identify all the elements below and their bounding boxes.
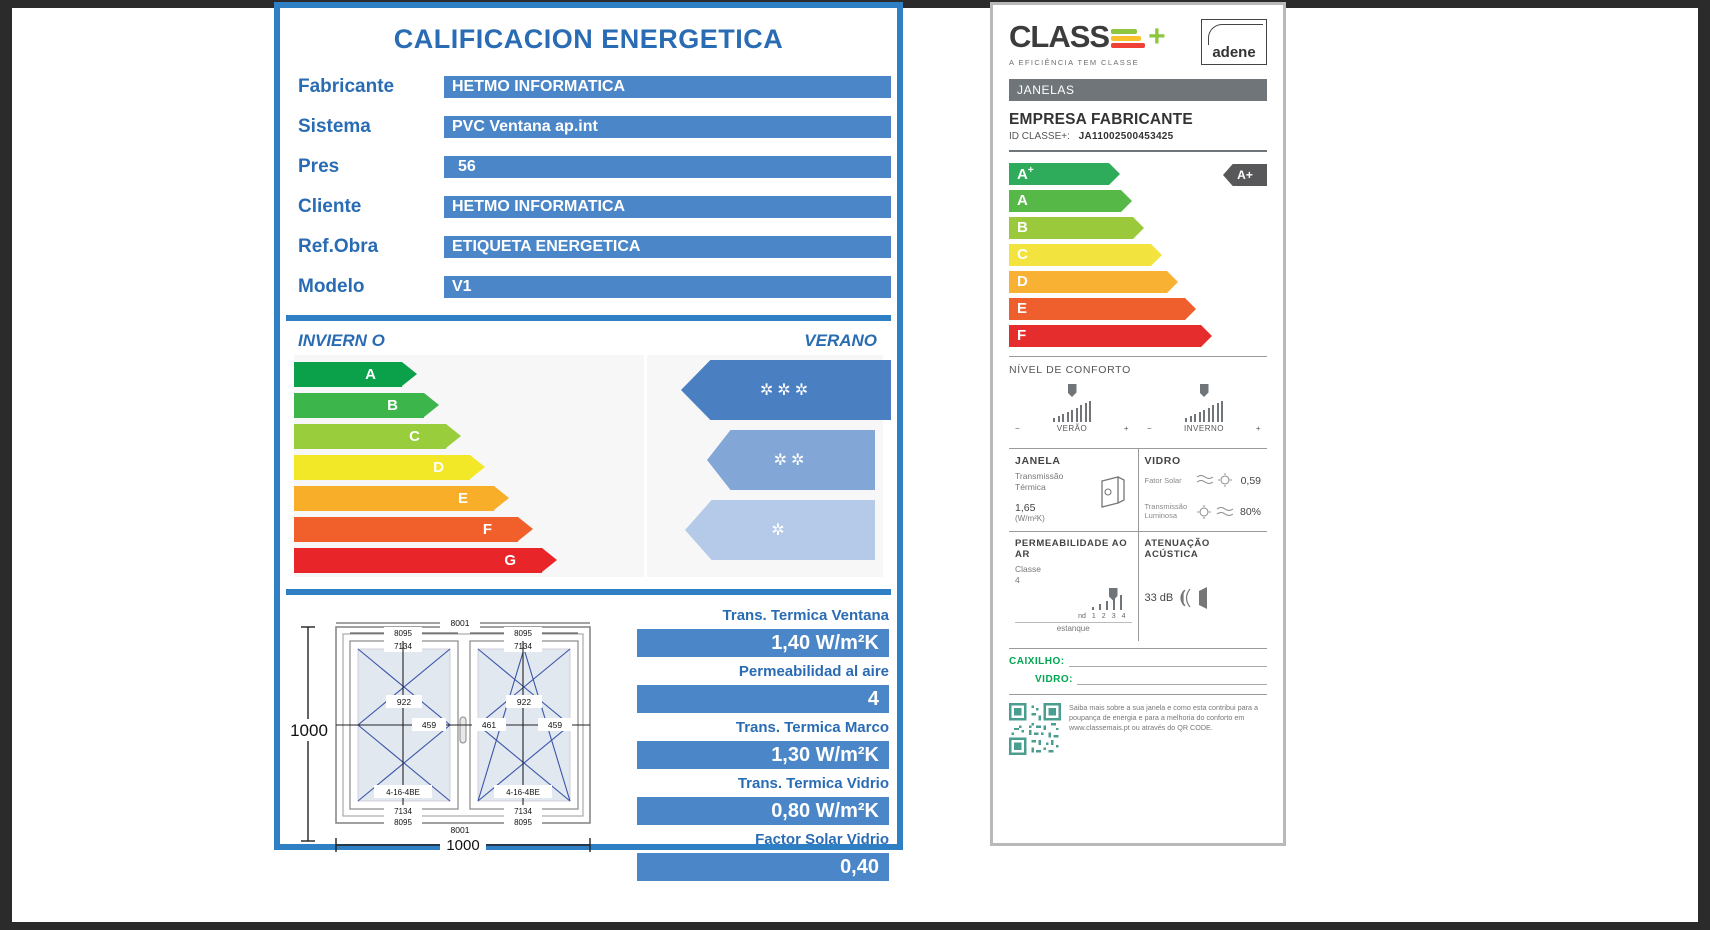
spec-solar-row: Fator Solar 0,59 (1145, 473, 1262, 489)
field-value[interactable]: ETIQUETA ENERGETICA (444, 236, 891, 258)
class-bar-row: G (294, 545, 644, 576)
class-bar-f: F (294, 517, 518, 542)
gauge-bar (1217, 403, 1219, 422)
gauge-bars-icon (1092, 594, 1122, 610)
divider (1009, 356, 1267, 357)
permeability-scale-tick: nd (1078, 613, 1086, 620)
permeability-scale: nd1234 (1078, 613, 1125, 620)
gauge-bar (1053, 418, 1055, 422)
gauge-bar (1067, 412, 1069, 422)
gauge-bars-icon (1141, 400, 1267, 422)
spec-vidro: VIDRO Fator Solar 0,59 (1138, 449, 1268, 531)
summer-level-2: ✲✲ (707, 430, 875, 490)
field-rule (1069, 656, 1267, 667)
class-letter: E (458, 490, 468, 507)
spec-grid-bottom: PERMEABILIDADE AO AR Classe 4 nd1234 est… (1009, 531, 1267, 640)
gauge-inverno: − INVERNO + (1141, 384, 1267, 442)
summer-class-scale: ✲✲✲ ✲✲ ✲ (647, 355, 883, 577)
qr-code[interactable] (1009, 703, 1061, 755)
pt-class-letter: E (1017, 300, 1027, 317)
gauge-bars-icon (1009, 400, 1135, 422)
footer-row: Saiba mais sobre a sua janela e como est… (1009, 703, 1267, 755)
permeability-scale-tick: 4 (1122, 613, 1126, 620)
seasons-section: INVIERN O VERANO A B C D E F G A *** (280, 321, 897, 589)
gauge-bar (1199, 412, 1201, 422)
field-value[interactable]: HETMO INFORMATICA (444, 76, 891, 98)
field-row-fabricante: Fabricante HETMO INFORMATICA (286, 67, 891, 107)
svg-text:8095: 8095 (394, 629, 412, 638)
field-row-modelo: Modelo V1 (286, 267, 891, 307)
comfort-section-title: NÍVEL DE CONFORTO (1009, 364, 1267, 376)
comfort-gauges: − VERÃO + − INVERNO + (1009, 384, 1267, 442)
field-row-sistema: Sistema PVC Ventana ap.int (286, 107, 891, 147)
gauge-bar (1106, 601, 1108, 610)
data-value-trans-marco: 1,30 W/m²K (637, 741, 889, 769)
screenshot-root: CALIFICACION ENERGETICA Fabricante HETMO… (0, 0, 1710, 930)
field-label: Sistema (286, 116, 444, 138)
class-letter: F (483, 521, 492, 538)
gauge-bar (1113, 598, 1115, 610)
performance-data-table: Trans. Termica Ventana 1,40 W/m²K Permea… (637, 603, 889, 883)
field-label: Ref.Obra (286, 236, 444, 258)
class-letter: A (365, 366, 376, 383)
class-letter: G (504, 552, 516, 569)
spec-lumi-row: Transmissão Luminosa 80% (1145, 503, 1262, 520)
svg-text:8001: 8001 (451, 618, 470, 628)
product-category-badge: JANELAS (1009, 79, 1267, 101)
field-label: Fabricante (286, 76, 444, 98)
adene-name: adene (1212, 44, 1255, 61)
class-bar-row: C (294, 421, 644, 452)
field-list: Fabricante HETMO INFORMATICA Sistema PVC… (280, 67, 897, 307)
summer-level-row: ✲✲✲ (647, 355, 883, 425)
spec-sub-permeabilidade: Classe (1015, 564, 1132, 575)
svg-text:459: 459 (422, 720, 436, 730)
data-label-trans-vidrio: Trans. Termica Vidrio (637, 771, 889, 797)
data-label-factor-solar: Factor Solar Vidrio (637, 827, 889, 853)
data-value-trans-ventana: 1,40 W/m²K (637, 629, 889, 657)
pt-class-bar-d: D (1009, 271, 1167, 293)
gauge-season-label: VERÃO (1057, 424, 1088, 433)
company-name: EMPRESA FABRICANTE (1009, 111, 1267, 129)
class-bar-row: B (294, 390, 644, 421)
gauge-bar (1080, 405, 1082, 422)
spec-permeabilidade: PERMEABILIDADE AO AR Classe 4 nd1234 est… (1009, 532, 1138, 640)
gauge-scale: − INVERNO + (1141, 424, 1267, 433)
pt-class-bar-e: E (1009, 298, 1185, 320)
pt-class-letter: A (1017, 192, 1028, 209)
field-value[interactable]: V1 (444, 276, 891, 298)
gauge-bar (1089, 401, 1091, 422)
speaker-icon (1179, 586, 1219, 610)
pt-class-letter: B (1017, 219, 1028, 236)
spec-janela: JANELA Transmissão Térmica 1,65 (W/m²K) (1009, 449, 1138, 531)
svg-text:1000: 1000 (290, 721, 328, 740)
gauge-bar (1212, 405, 1214, 422)
spec-title-acustica: ATENUAÇÃO ACÚSTICA (1145, 538, 1262, 560)
svg-text:8001: 8001 (451, 825, 470, 835)
classe-id-label: ID CLASSE+: (1009, 131, 1070, 142)
gauge-bar (1058, 416, 1060, 422)
class-bar-row: A (294, 359, 644, 390)
window-thermal-icon (1098, 475, 1128, 509)
spec-acustica: ATENUAÇÃO ACÚSTICA 33 dB (1138, 532, 1268, 640)
class-letter: B (387, 397, 398, 414)
pt-class-bar-c: C (1009, 244, 1151, 266)
svg-text:4-16-4BE: 4-16-4BE (386, 788, 420, 797)
white-canvas: CALIFICACION ENERGETICA Fabricante HETMO… (12, 8, 1698, 922)
class-bar-row: E (294, 483, 644, 514)
portuguese-energy-label: CLASS + A EFICIÊNCIA TEM CLASSE adene JA… (990, 2, 1286, 846)
pt-class-bar-b: B (1009, 217, 1133, 239)
gauge-bar (1203, 410, 1205, 422)
summer-level-1: ✲ (685, 500, 875, 560)
classe-tagline: A EFICIÊNCIA TEM CLASSE (1009, 58, 1165, 67)
pt-bar-row: A (1009, 187, 1267, 214)
winter-title: INVIERN O (298, 331, 385, 351)
gauge-bar (1190, 416, 1192, 422)
permeability-gauge: nd1234 (1015, 588, 1132, 622)
gauge-verao: − VERÃO + (1009, 384, 1135, 442)
gauge-plus: + (1124, 424, 1129, 433)
gauge-bar (1208, 408, 1210, 423)
spec-value-lumi: 80% (1240, 506, 1261, 518)
window-technical-drawing: 1000 1000 (290, 609, 638, 855)
gauge-bar (1120, 595, 1122, 610)
gauge-bar (1062, 414, 1064, 422)
spec-title-janela: JANELA (1015, 455, 1132, 467)
brand-header: CLASS + A EFICIÊNCIA TEM CLASSE adene (1009, 19, 1267, 67)
gauge-bar (1221, 401, 1223, 422)
field-caixilho[interactable]: CAIXILHO: (1009, 656, 1267, 667)
classe-bars-icon (1111, 29, 1145, 48)
pt-bar-row: F (1009, 322, 1267, 349)
divider (1009, 648, 1267, 649)
pt-class-bar-a: A (1009, 190, 1121, 212)
classe-id-value: JA11002500453425 (1079, 131, 1174, 142)
gauge-bar (1099, 604, 1101, 610)
classe-logo: CLASS + A EFICIÊNCIA TEM CLASSE (1009, 19, 1165, 67)
luminous-transmission-icon (1195, 504, 1235, 520)
pt-class-scale: A+ A+ A B C D E F (1009, 160, 1267, 349)
summer-level-3: ✲✲✲ (681, 360, 891, 420)
classe-wordmark: CLASS + (1009, 19, 1165, 55)
pt-bar-row: E (1009, 295, 1267, 322)
gauge-bar (1194, 414, 1196, 422)
field-vidro[interactable]: VIDRO: (1009, 674, 1267, 685)
field-value[interactable]: HETMO INFORMATICA (444, 196, 891, 218)
svg-text:7134: 7134 (514, 807, 532, 816)
class-letter: D (433, 459, 444, 476)
gauge-bar (1071, 410, 1073, 422)
gauge-minus: − (1015, 424, 1020, 433)
gauge-scale: − VERÃO + (1009, 424, 1135, 433)
spec-title-permeabilidade: PERMEABILIDADE AO AR (1015, 538, 1132, 560)
spanish-energy-label: CALIFICACION ENERGETICA Fabricante HETMO… (274, 2, 903, 850)
pt-class-letter: D (1017, 273, 1028, 290)
field-label-vidro: VIDRO: (1035, 674, 1073, 685)
class-bar-g: G (294, 548, 542, 573)
data-label-permeabilidad: Permeabilidad al aire (637, 659, 889, 685)
svg-text:922: 922 (517, 697, 531, 707)
pt-class-bar-aplus: A+ (1009, 163, 1109, 185)
spec-value-solar: 0,59 (1241, 475, 1261, 487)
divider (1009, 150, 1267, 152)
spec-label-solar: Fator Solar (1145, 477, 1191, 486)
gauge-marker-icon (1068, 384, 1077, 397)
svg-text:459: 459 (548, 720, 562, 730)
class-bar-e: E (294, 486, 494, 511)
class-letter: C (409, 428, 420, 445)
page-title: CALIFICACION ENERGETICA (280, 24, 897, 55)
field-row-refobra: Ref.Obra ETIQUETA ENERGETICA (286, 227, 891, 267)
gauge-bar (1185, 418, 1187, 422)
field-rule (1077, 674, 1267, 685)
pt-class-letter: C (1017, 246, 1028, 263)
acoustic-row: 33 dB (1145, 586, 1262, 610)
pt-bar-row: D (1009, 268, 1267, 295)
permeability-scale-tick: 1 (1092, 613, 1096, 620)
gauge-season-label: INVERNO (1184, 424, 1224, 433)
class-bar-d: D (294, 455, 470, 480)
pt-class-bar-f: F (1009, 325, 1201, 347)
field-label: Pres (286, 156, 444, 178)
spec-unit-janela: (W/m²K) (1015, 514, 1132, 523)
data-value-permeabilidad: 4 (637, 685, 889, 713)
gauge-bar (1085, 403, 1087, 422)
svg-text:8095: 8095 (514, 629, 532, 638)
data-value-factor-solar: 0,40 (637, 853, 889, 881)
gauge-bar (1092, 607, 1094, 610)
field-value[interactable]: 56 (444, 156, 891, 178)
gauge-minus: − (1147, 424, 1152, 433)
pt-class-letter: F (1017, 327, 1026, 344)
summer-title: VERANO (804, 331, 877, 351)
svg-text:7134: 7134 (394, 807, 412, 816)
winter-class-scale: A B C D E F G (294, 355, 644, 577)
divider (1009, 694, 1267, 695)
spec-label-lumi: Transmissão Luminosa (1145, 503, 1191, 520)
data-label-trans-marco: Trans. Termica Marco (637, 715, 889, 741)
footer-text: Saiba mais sobre a sua janela e como est… (1069, 703, 1267, 734)
svg-text:8095: 8095 (514, 818, 532, 827)
data-label-trans-ventana: Trans. Termica Ventana (637, 603, 889, 629)
class-bar-b: B (294, 393, 424, 418)
svg-text:461: 461 (482, 720, 496, 730)
field-row-pres: Pres 56 (286, 147, 891, 187)
spec-value-permeabilidade: 4 (1015, 575, 1132, 586)
svg-text:1000: 1000 (446, 837, 479, 854)
summer-level-row: ✲✲ (647, 425, 883, 495)
pt-bar-row: C (1009, 241, 1267, 268)
bottom-section: 1000 1000 (280, 595, 897, 863)
permeability-scale-tick: 2 (1102, 613, 1106, 620)
gauge-marker-icon (1200, 384, 1209, 397)
class-bar-row: F (294, 514, 644, 545)
field-label: Cliente (286, 196, 444, 218)
solar-factor-icon (1195, 473, 1235, 489)
gauge-bar (1076, 408, 1078, 423)
field-label: Modelo (286, 276, 444, 298)
svg-text:922: 922 (397, 697, 411, 707)
svg-text:4-16-4BE: 4-16-4BE (506, 788, 540, 797)
field-label-caixilho: CAIXILHO: (1009, 656, 1065, 667)
spec-grid-top: JANELA Transmissão Térmica 1,65 (W/m²K) … (1009, 448, 1267, 531)
spec-title-vidro: VIDRO (1145, 455, 1262, 467)
svg-text:8095: 8095 (394, 818, 412, 827)
permeability-scale-tick: 3 (1112, 613, 1116, 620)
classe-text: CLASS (1009, 19, 1109, 55)
class-bar-a: A (294, 362, 402, 387)
pt-bar-row: B (1009, 214, 1267, 241)
pt-class-letter: A+ (1017, 165, 1034, 183)
class-bar-row: D (294, 452, 644, 483)
spec-value-acustica: 33 dB (1145, 592, 1174, 604)
classe-plus: + (1148, 25, 1165, 49)
summer-level-row: ✲ (647, 495, 883, 565)
field-row-cliente: Cliente HETMO INFORMATICA (286, 187, 891, 227)
gauge-plus: + (1256, 424, 1261, 433)
permeability-caption: estanque (1015, 622, 1132, 633)
adene-logo: adene (1201, 19, 1267, 65)
class-bar-c: C (294, 424, 446, 449)
classe-id-row: ID CLASSE+: JA11002500453425 (1009, 131, 1267, 142)
data-value-trans-vidrio: 0,80 W/m²K (637, 797, 889, 825)
field-value[interactable]: PVC Ventana ap.int (444, 116, 891, 138)
